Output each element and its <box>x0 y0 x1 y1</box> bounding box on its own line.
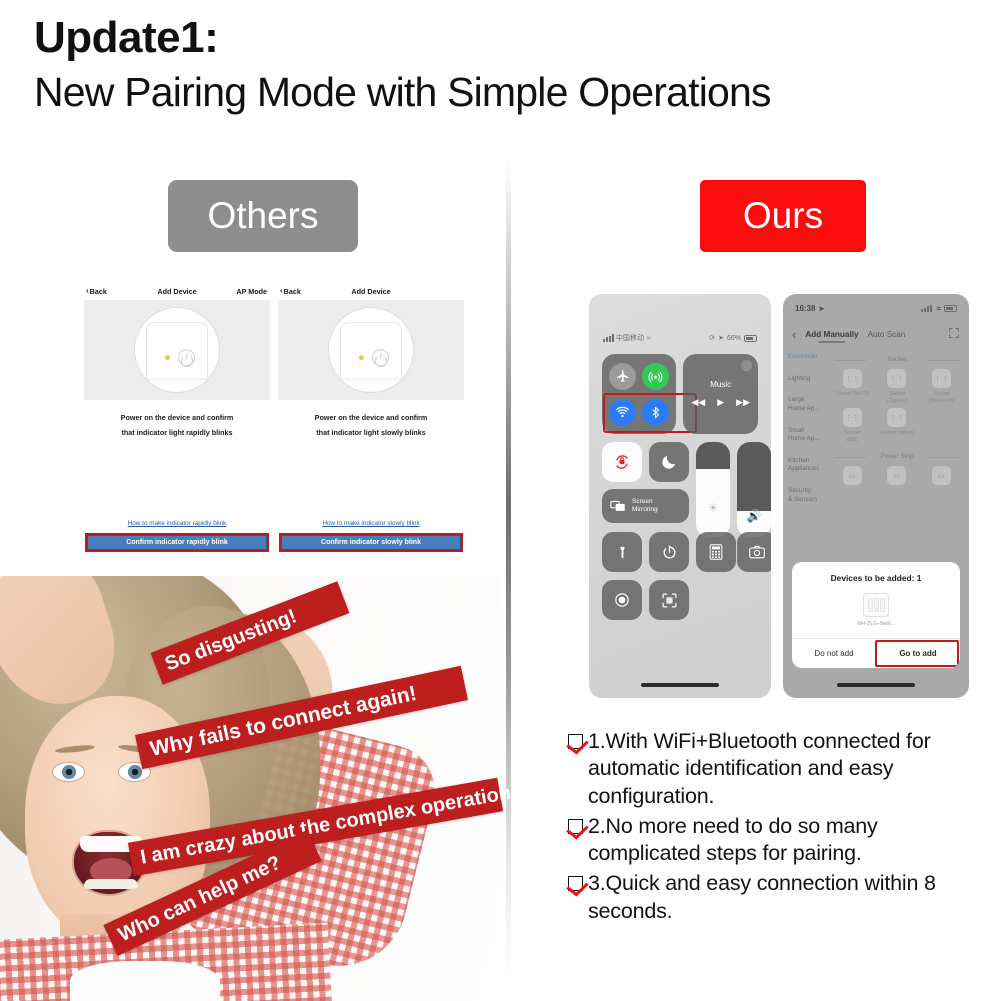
device-grid-power-strip: ▭ ▭ ▭ <box>831 466 963 485</box>
battery-icon <box>744 335 757 342</box>
volume-icon: 🔊 <box>747 509 762 523</box>
control-center-shortcut-row <box>602 532 758 572</box>
nav-bar: ‹ Back Add Device AP Mode <box>84 282 270 300</box>
confirm-button[interactable]: Confirm indicator rapidly blink <box>87 535 267 550</box>
status-bar: 中国移动 ≈ ⟳ ➤ 66% <box>589 332 771 344</box>
control-center-phone: 中国移动 ≈ ⟳ ➤ 66% <box>589 294 771 698</box>
lock-orientation-icon: ⟳ <box>709 334 715 342</box>
do-not-disturb-toggle[interactable] <box>649 442 689 482</box>
device-item[interactable]: ▭ <box>920 466 963 485</box>
brightness-icon: ☀ <box>708 501 719 515</box>
socket-icon: ⋮⋮ <box>843 408 862 427</box>
location-icon: ➤ <box>718 334 724 342</box>
sidebar-item-large-home-appliances[interactable]: Large Home Ap... <box>788 396 820 413</box>
device-item[interactable]: ▭ <box>876 466 919 485</box>
timer-button[interactable] <box>649 532 689 572</box>
wall-switch-icon <box>863 593 889 617</box>
modal-actions: Do not add Go to add <box>792 638 960 668</box>
clock-label: 16:38 <box>795 304 815 313</box>
brightness-slider[interactable]: ☀ <box>696 442 730 537</box>
socket-icon: ⋮⋮ <box>843 369 862 388</box>
timer-icon <box>661 544 678 561</box>
section-divider <box>506 160 511 980</box>
airplay-icon[interactable] <box>741 360 752 371</box>
page-title: Update1: <box>34 14 994 62</box>
qr-scanner-button[interactable] <box>649 580 689 620</box>
socket-icon: ⋮⋮ <box>887 408 906 427</box>
instruction-line-1: Power on the device and confirm <box>278 411 464 426</box>
airplane-icon <box>616 369 630 383</box>
benefit-item: 1.With WiFi+Bluetooth connected for auto… <box>568 728 993 810</box>
rotation-lock-toggle[interactable] <box>602 442 642 482</box>
power-strip-icon: ▭ <box>887 466 906 485</box>
others-screens: ‹ Back Add Device AP Mode Power on the d… <box>84 282 464 577</box>
iris-right <box>128 765 142 779</box>
screen-record-button[interactable] <box>602 580 642 620</box>
scan-frame-icon[interactable] <box>948 327 960 341</box>
location-icon: ➤ <box>818 305 824 313</box>
sidebar-item-small-home-appliances[interactable]: Small Home Ap... <box>788 427 820 444</box>
power-icon <box>178 349 195 366</box>
help-link[interactable]: How to make indicator slowly blink <box>278 520 464 527</box>
help-link[interactable]: How to make indicator rapidly blink <box>84 520 270 527</box>
device-illustration <box>84 300 270 400</box>
devices-found-modal: Devices to be added: 1 NH-2LG-Swit... Do… <box>792 562 960 668</box>
calculator-icon <box>709 544 723 560</box>
previous-track-button[interactable]: ◀◀ <box>691 397 705 408</box>
device-model-label: NH-2LG-Swit... <box>857 621 895 627</box>
go-to-add-button[interactable]: Go to add <box>876 639 960 668</box>
sidebar-item-kitchen-appliances[interactable]: Kitchen Appliances <box>788 457 820 474</box>
device-item[interactable]: ⋮⋮ Socket (NB) <box>831 408 874 444</box>
flashlight-icon <box>615 545 630 560</box>
checkmark-icon <box>568 734 583 749</box>
device-grid-socket: ⋮⋮ Socket (Wi-Fi) ⋮⋮ Socket (Zigbee) ⋮⋮ … <box>831 369 963 444</box>
airplane-mode-toggle[interactable] <box>609 363 636 390</box>
confirm-button-highlight: Confirm indicator rapidly blink <box>85 533 269 552</box>
back-button[interactable]: ‹ <box>792 327 796 342</box>
checkmark-icon <box>568 876 583 891</box>
wifi-status-icon: ≈ <box>647 335 651 342</box>
eye-left <box>52 762 85 782</box>
page-header: Update1: New Pairing Mode with Simple Op… <box>34 14 994 116</box>
socket-icon: ⋮⋮ <box>887 369 906 388</box>
instruction-text: Power on the device and confirm that ind… <box>84 411 270 441</box>
rotation-lock-icon <box>612 452 632 472</box>
home-indicator[interactable] <box>641 683 719 687</box>
section-header-socket: Socket <box>831 356 963 363</box>
sidebar-item-lighting[interactable]: Lighting <box>788 375 820 384</box>
home-indicator[interactable] <box>837 683 915 687</box>
sidebar-item-security-sensors[interactable]: Security & Sensors <box>788 487 820 504</box>
signal-bars-icon <box>921 305 932 313</box>
nav-title: Add Device <box>278 287 464 296</box>
music-controls: ◀◀ ▶ ▶▶ <box>691 397 750 408</box>
moon-icon <box>660 453 678 471</box>
device-illustration <box>278 300 464 400</box>
carrier-label: 中国移动 <box>616 333 644 343</box>
next-track-button[interactable]: ▶▶ <box>736 397 750 408</box>
power-icon <box>372 349 389 366</box>
cellular-data-toggle[interactable] <box>642 363 669 390</box>
others-badge: Others <box>168 180 358 252</box>
ours-badge: Ours <box>700 180 866 252</box>
screen-mirroring-button[interactable]: Screen Mirroring <box>602 489 689 523</box>
lower-teeth <box>84 879 138 889</box>
volume-slider[interactable]: 🔊 <box>737 442 771 537</box>
instruction-line-2: that indicator light slowly blinks <box>278 426 464 441</box>
device-item[interactable]: ⋮⋮ Socket (Wi-Fi) <box>831 369 874 405</box>
device-item[interactable]: ⋮⋮ Socket (Zigbee) <box>876 369 919 405</box>
device-label: Socket (Wi-Fi) <box>835 391 869 398</box>
control-center-bottom-row <box>602 580 689 620</box>
instruction-text: Power on the device and confirm that ind… <box>278 411 464 441</box>
screen-mirroring-label: Screen Mirroring <box>632 498 658 514</box>
device-item[interactable]: ▭ <box>831 466 874 485</box>
add-device-phone: 16:38 ➤ ≈ ‹ Add Manually Auto Scan Elect… <box>783 294 969 698</box>
tab-add-manually[interactable]: Add Manually <box>805 330 858 339</box>
power-strip-icon: ▭ <box>932 466 951 485</box>
flashlight-button[interactable] <box>602 532 642 572</box>
calculator-button[interactable] <box>696 532 736 572</box>
screen-mirroring-icon <box>610 499 627 513</box>
device-body <box>340 322 402 380</box>
indicator-led-icon <box>165 355 170 360</box>
power-strip-icon: ▭ <box>843 466 862 485</box>
app-nav-bar: ‹ Add Manually Auto Scan <box>783 323 969 345</box>
benefit-text: 2.No more need to do so many complicated… <box>588 813 993 868</box>
play-button[interactable]: ▶ <box>717 397 724 408</box>
iris-left <box>62 765 76 779</box>
benefit-text: 1.With WiFi+Bluetooth connected for auto… <box>588 728 993 810</box>
device-label: Socket (other) <box>880 430 914 437</box>
music-title: Music <box>710 380 731 389</box>
instruction-line-1: Power on the device and confirm <box>84 411 270 426</box>
qr-scan-icon <box>661 592 678 609</box>
nav-bar: ‹ Back Add Device <box>278 282 464 300</box>
battery-icon <box>944 305 957 312</box>
device-label: Socket (NB) <box>844 430 860 444</box>
socket-icon: ⋮⋮ <box>932 369 951 388</box>
music-widget[interactable]: Music ◀◀ ▶ ▶▶ <box>683 354 758 434</box>
page-root: Update1: New Pairing Mode with Simple Op… <box>0 0 1001 1001</box>
benefit-text: 3.Quick and easy connection within 8 sec… <box>588 870 993 925</box>
volume-fill <box>737 442 771 511</box>
device-item[interactable]: ⋮⋮ Socket (Bluetooth) <box>920 369 963 405</box>
benefit-item: 3.Quick and easy connection within 8 sec… <box>568 870 993 925</box>
confirm-button[interactable]: Confirm indicator slowly blink <box>281 535 461 550</box>
others-screen-2: ‹ Back Add Device Power on the device an… <box>278 282 464 577</box>
confirm-button-highlight: Confirm indicator slowly blink <box>279 533 463 552</box>
others-screen-1: ‹ Back Add Device AP Mode Power on the d… <box>84 282 270 577</box>
battery-percent: 66% <box>727 335 741 342</box>
status-right: ⟳ ➤ 66% <box>709 334 757 342</box>
benefits-list: 1.With WiFi+Bluetooth connected for auto… <box>568 728 993 928</box>
tab-auto-scan[interactable]: Auto Scan <box>868 330 906 339</box>
control-center-top-grid: Music ◀◀ ▶ ▶▶ <box>602 354 758 434</box>
device-item[interactable]: ⋮⋮ Socket (other) <box>876 408 919 444</box>
section-header-power-strip: Power Strip <box>831 453 963 460</box>
indicator-led-icon <box>359 355 364 360</box>
status-bar: 16:38 ➤ ≈ <box>783 302 969 315</box>
sidebar-item-electrician[interactable]: Electrician <box>788 353 820 362</box>
device-body <box>146 322 208 380</box>
camera-button[interactable] <box>737 532 771 572</box>
found-device: NH-2LG-Swit... <box>792 583 960 638</box>
signal-bars-icon <box>603 334 614 342</box>
record-icon <box>613 591 631 609</box>
modal-title: Devices to be added: 1 <box>792 562 960 583</box>
brightness-fill <box>696 442 730 469</box>
device-label: Socket (Bluetooth) <box>928 391 954 405</box>
cellular-icon <box>648 369 663 384</box>
benefit-item: 2.No more need to do so many complicated… <box>568 813 993 868</box>
device-label: Socket (Zigbee) <box>887 391 907 405</box>
do-not-add-button[interactable]: Do not add <box>792 639 876 668</box>
white-top <box>70 961 220 1001</box>
page-subtitle: New Pairing Mode with Simple Operations <box>34 69 994 116</box>
connectivity-tile <box>602 354 676 434</box>
checkmark-icon <box>568 819 583 834</box>
ap-mode-button[interactable]: AP Mode <box>236 287 267 296</box>
instruction-line-2: that indicator light rapidly blinks <box>84 426 270 441</box>
camera-icon <box>749 545 765 559</box>
wifi-status-icon: ≈ <box>937 304 941 313</box>
